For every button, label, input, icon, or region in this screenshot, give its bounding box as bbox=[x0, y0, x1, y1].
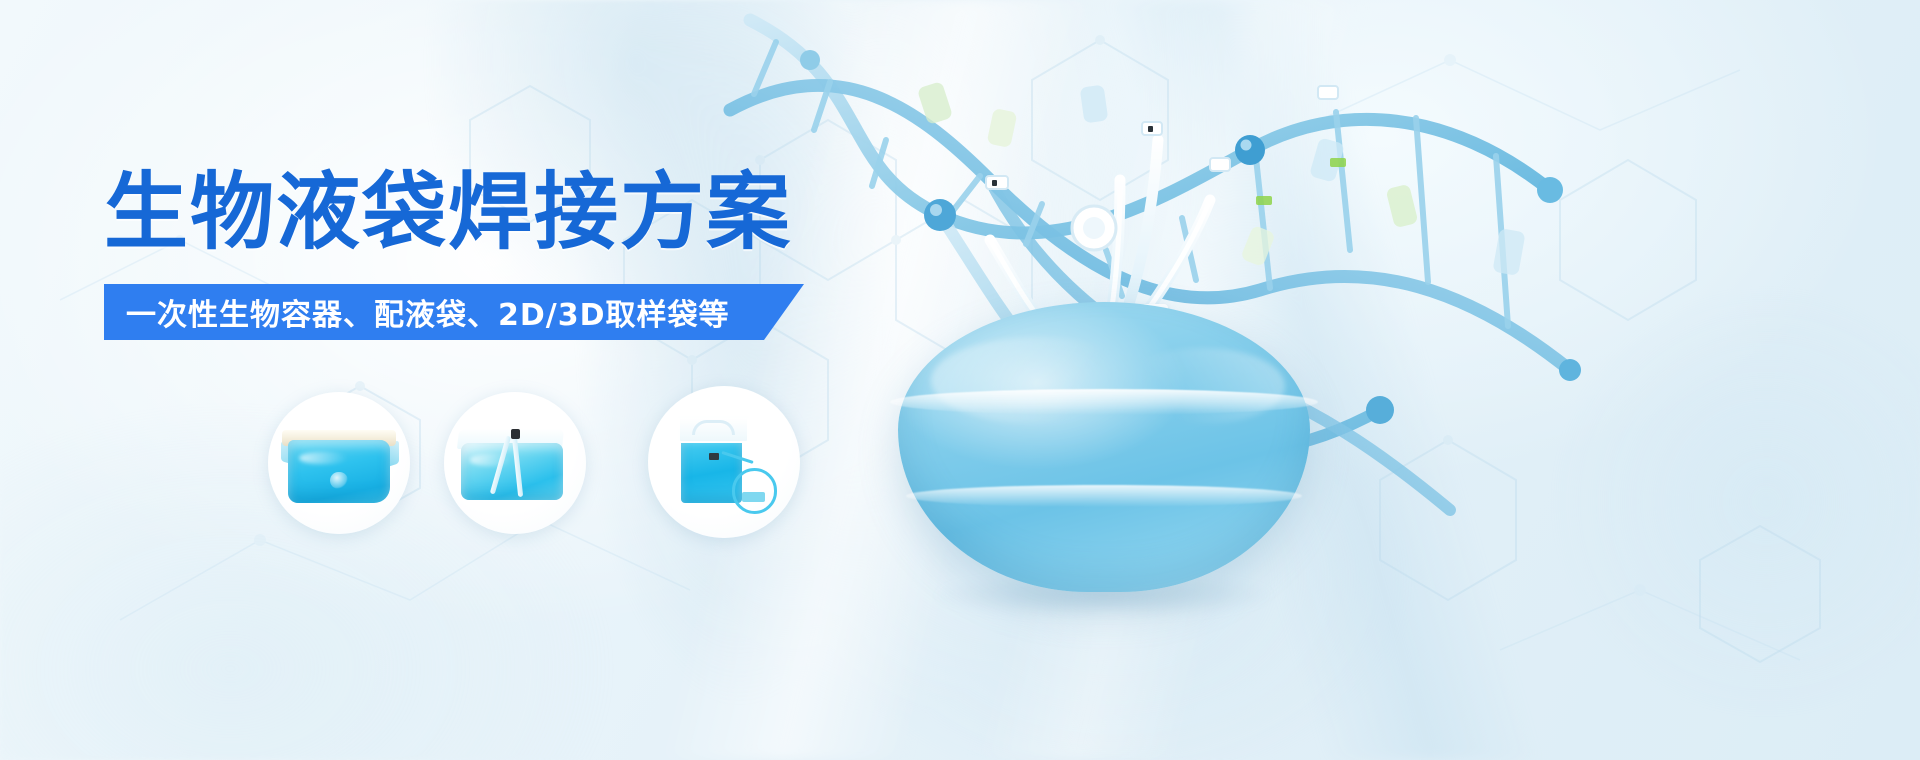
subtitle-text: 一次性生物容器、配液袋、2D/3D取样袋等 bbox=[104, 290, 730, 334]
page-title: 生物液袋焊接方案 bbox=[104, 170, 924, 254]
subtitle-ribbon: 一次性生物容器、配液袋、2D/3D取样袋等 bbox=[104, 284, 804, 340]
bioreactor-bag-illustration bbox=[898, 302, 1310, 592]
thumbnail-sampling-bag[interactable] bbox=[648, 386, 800, 538]
copy-block: 生物液袋焊接方案 一次性生物容器、配液袋、2D/3D取样袋等 bbox=[104, 170, 924, 340]
thumbnail-3d-cube-bag[interactable] bbox=[444, 392, 586, 534]
filter-disc-icon bbox=[1072, 206, 1116, 250]
hero-banner: 生物液袋焊接方案 一次性生物容器、配液袋、2D/3D取样袋等 bbox=[0, 0, 1920, 760]
thumbnail-2d-liquid-bag[interactable] bbox=[268, 392, 410, 534]
